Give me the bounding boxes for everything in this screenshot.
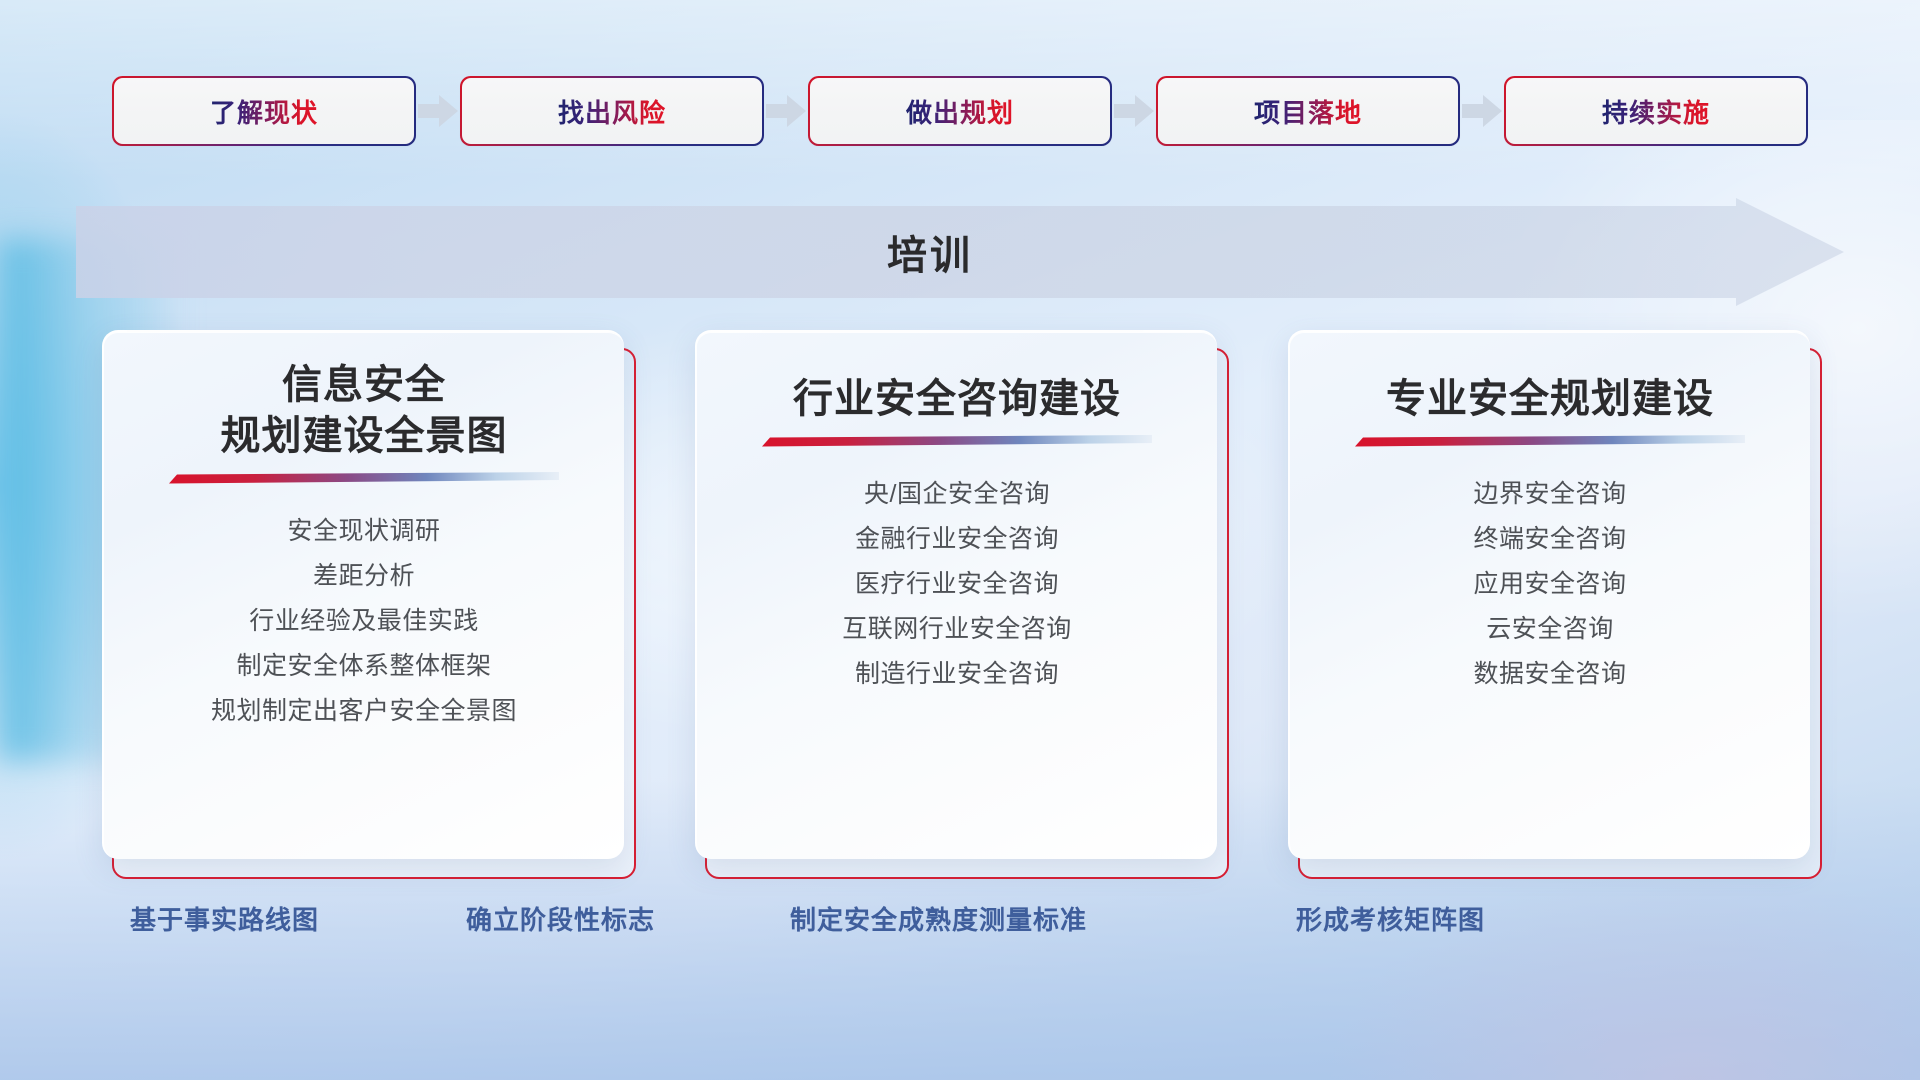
step-arrow-1 bbox=[414, 72, 462, 150]
card-list-item: 规划制定出客户安全全景图 bbox=[211, 689, 517, 734]
card-title: 行业安全咨询建设 bbox=[697, 374, 1217, 425]
card-list-item: 终端安全咨询 bbox=[1473, 517, 1626, 562]
card-list-item: 差距分析 bbox=[313, 554, 415, 599]
arrow-right-icon bbox=[1462, 94, 1502, 128]
footer-label-4: 形成考核矩阵图 bbox=[1296, 900, 1485, 937]
card-list-item: 行业经验及最佳实践 bbox=[249, 599, 479, 644]
card-list-item: 云安全咨询 bbox=[1486, 607, 1614, 652]
card-3[interactable]: 专业安全规划建设 边界安全咨询终端安全咨询应用安全咨询云安全咨询数据安全咨询 bbox=[1288, 330, 1818, 875]
card-item-list: 边界安全咨询终端安全咨询应用安全咨询云安全咨询数据安全咨询 bbox=[1290, 472, 1810, 697]
card-list-item: 金融行业安全咨询 bbox=[855, 517, 1059, 562]
card-panel: 专业安全规划建设 边界安全咨询终端安全咨询应用安全咨询云安全咨询数据安全咨询 bbox=[1288, 330, 1810, 859]
footer-label-1: 基于事实路线图 bbox=[130, 900, 319, 937]
card-title: 信息安全规划建设全景图 bbox=[104, 360, 624, 462]
card-divider bbox=[1355, 435, 1745, 448]
card-list-item: 制造行业安全咨询 bbox=[855, 652, 1059, 697]
step-label: 项目落地 bbox=[1254, 93, 1362, 130]
arrow-right-icon bbox=[1114, 94, 1154, 128]
card-item-list: 安全现状调研差距分析行业经验及最佳实践制定安全体系整体框架规划制定出客户安全全景… bbox=[104, 509, 624, 734]
card-divider bbox=[169, 472, 559, 485]
step-label: 做出规划 bbox=[906, 93, 1014, 130]
arrow-right-icon bbox=[418, 94, 458, 128]
card-list-item: 边界安全咨询 bbox=[1473, 472, 1626, 517]
step-box-1[interactable]: 了解现状 bbox=[114, 78, 414, 144]
step-box-5[interactable]: 持续实施 bbox=[1506, 78, 1806, 144]
card-panel: 信息安全规划建设全景图 安全现状调研差距分析行业经验及最佳实践制定安全体系整体框… bbox=[102, 330, 624, 859]
step-arrow-3 bbox=[1110, 72, 1158, 150]
step-label: 了解现状 bbox=[210, 93, 318, 130]
process-step-row: 了解现状 找出风险 做出规划 项目落地 持续实施 bbox=[0, 72, 1920, 150]
card-list-item: 央/国企安全咨询 bbox=[864, 472, 1050, 517]
card-title-line: 规划建设全景图 bbox=[104, 411, 624, 462]
card-title-line: 信息安全 bbox=[104, 360, 624, 411]
step-box-4[interactable]: 项目落地 bbox=[1158, 78, 1458, 144]
step-label: 找出风险 bbox=[558, 93, 666, 130]
card-title-line: 行业安全咨询建设 bbox=[697, 374, 1217, 425]
step-arrow-2 bbox=[762, 72, 810, 150]
step-box-2[interactable]: 找出风险 bbox=[462, 78, 762, 144]
card-row: 信息安全规划建设全景图 安全现状调研差距分析行业经验及最佳实践制定安全体系整体框… bbox=[0, 330, 1920, 890]
card-list-item: 互联网行业安全咨询 bbox=[842, 607, 1072, 652]
card-list-item: 数据安全咨询 bbox=[1473, 652, 1626, 697]
card-panel: 行业安全咨询建设 央/国企安全咨询金融行业安全咨询医疗行业安全咨询互联网行业安全… bbox=[695, 330, 1217, 859]
footer-label-2: 确立阶段性标志 bbox=[466, 900, 655, 937]
training-banner: 培训 bbox=[76, 198, 1844, 306]
card-divider bbox=[762, 435, 1152, 448]
card-item-list: 央/国企安全咨询金融行业安全咨询医疗行业安全咨询互联网行业安全咨询制造行业安全咨… bbox=[697, 472, 1217, 697]
step-box-3[interactable]: 做出规划 bbox=[810, 78, 1110, 144]
footer-label-row: 基于事实路线图确立阶段性标志制定安全成熟度测量标准形成考核矩阵图 bbox=[0, 900, 1920, 970]
card-list-item: 医疗行业安全咨询 bbox=[855, 562, 1059, 607]
step-label: 持续实施 bbox=[1602, 93, 1710, 130]
card-list-item: 安全现状调研 bbox=[287, 509, 440, 554]
banner-title: 培训 bbox=[76, 198, 1844, 306]
footer-label-3: 制定安全成熟度测量标准 bbox=[790, 900, 1087, 937]
arrow-right-icon bbox=[766, 94, 806, 128]
card-title-line: 专业安全规划建设 bbox=[1290, 374, 1810, 425]
card-list-item: 应用安全咨询 bbox=[1473, 562, 1626, 607]
card-1[interactable]: 信息安全规划建设全景图 安全现状调研差距分析行业经验及最佳实践制定安全体系整体框… bbox=[102, 330, 632, 875]
card-title: 专业安全规划建设 bbox=[1290, 374, 1810, 425]
card-2[interactable]: 行业安全咨询建设 央/国企安全咨询金融行业安全咨询医疗行业安全咨询互联网行业安全… bbox=[695, 330, 1225, 875]
step-arrow-4 bbox=[1458, 72, 1506, 150]
card-list-item: 制定安全体系整体框架 bbox=[236, 644, 491, 689]
